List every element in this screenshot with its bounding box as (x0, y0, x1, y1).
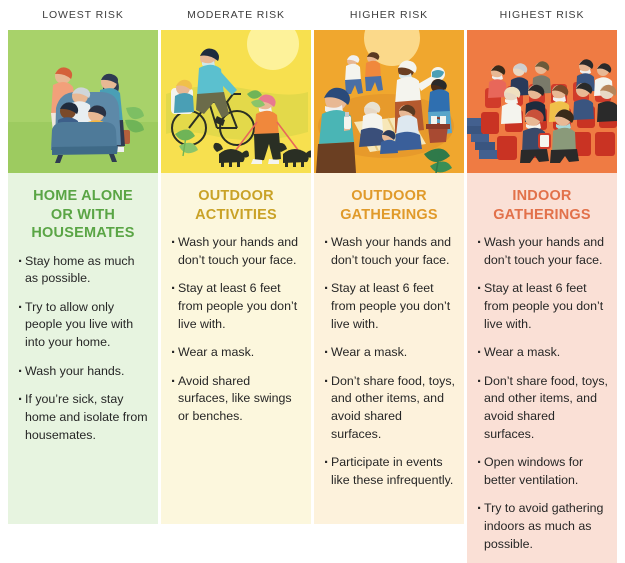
column-title-line: GATHERINGS (320, 206, 458, 225)
cyclist-and-dog-walker-icon (161, 30, 311, 173)
column-title-line: HOUSEMATES (14, 224, 152, 243)
column-title-line: OUTDOOR (167, 187, 305, 206)
risk-header-highest: HIGHEST RISK (467, 0, 617, 30)
list-item: Participate in events like these infrequ… (324, 454, 455, 489)
column-title-line: OUTDOOR (320, 187, 458, 206)
list-item: Stay at least 6 feet from people you don… (324, 280, 455, 333)
illustration-park-picnic-gathering (314, 30, 464, 173)
family-reading-on-couch-icon (8, 30, 158, 173)
risk-column-lowest: HOME ALONE OR WITH HOUSEMATES Stay home … (8, 30, 158, 524)
column-title-line: GATHERINGS (473, 206, 611, 225)
column-title-lowest: HOME ALONE OR WITH HOUSEMATES (8, 173, 158, 251)
risk-columns-row: HOME ALONE OR WITH HOUSEMATES Stay home … (0, 30, 625, 524)
risk-column-moderate: OUTDOOR ACTIVITIES Wash your hands and d… (161, 30, 311, 524)
illustration-cyclist-and-dog-walker-outdoors (161, 30, 311, 173)
list-item: Stay home as much as possible. (18, 253, 149, 288)
park-picnic-gathering-icon (314, 30, 464, 173)
list-item: Avoid shared surfaces, like swings or be… (171, 373, 302, 426)
list-item: Stay at least 6 feet from people you don… (477, 280, 608, 333)
column-title-line: OR WITH (14, 206, 152, 225)
risk-header-row: LOWEST RISK MODERATE RISK HIGHER RISK HI… (0, 0, 625, 30)
risk-levels-infographic: LOWEST RISK MODERATE RISK HIGHER RISK HI… (0, 0, 625, 524)
list-item: Wear a mask. (324, 344, 455, 362)
list-item: Don’t share food, toys, and other items,… (324, 373, 455, 443)
risk-column-higher: OUTDOOR GATHERINGS Wash your hands and d… (314, 30, 464, 524)
list-item: Wash your hands and don’t touch your fac… (171, 234, 302, 269)
bullet-list-moderate: Wash your hands and don’t touch your fac… (161, 232, 311, 524)
list-item: Stay at least 6 feet from people you don… (171, 280, 302, 333)
list-item: Wear a mask. (477, 344, 608, 362)
column-title-higher: OUTDOOR GATHERINGS (314, 173, 464, 232)
list-item: Try to avoid gathering indoors as much a… (477, 500, 608, 553)
column-title-highest: INDOOR GATHERINGS (467, 173, 617, 232)
column-title-moderate: OUTDOOR ACTIVITIES (161, 173, 311, 232)
risk-column-highest: INDOOR GATHERINGS Wash your hands and do… (467, 30, 617, 524)
column-title-line: INDOOR (473, 187, 611, 206)
bullet-list-highest: Wash your hands and don’t touch your fac… (467, 232, 617, 563)
illustration-movie-theater-audience (467, 30, 617, 173)
movie-theater-audience-icon (467, 30, 617, 173)
column-title-line: ACTIVITIES (167, 206, 305, 225)
risk-header-higher: HIGHER RISK (314, 0, 464, 30)
column-title-line: HOME ALONE (14, 187, 152, 206)
list-item: Wear a mask. (171, 344, 302, 362)
risk-header-lowest: LOWEST RISK (8, 0, 158, 30)
bullet-list-higher: Wash your hands and don’t touch your fac… (314, 232, 464, 524)
list-item: Wash your hands. (18, 363, 149, 381)
risk-header-moderate: MODERATE RISK (161, 0, 311, 30)
list-item: Open windows for better ventilation. (477, 454, 608, 489)
bullet-list-lowest: Stay home as much as possible. Try to al… (8, 251, 158, 524)
list-item: Don’t share food, toys, and other items,… (477, 373, 608, 443)
illustration-family-reading-on-couch (8, 30, 158, 173)
list-item: If you’re sick, stay home and isolate fr… (18, 391, 149, 444)
list-item: Wash your hands and don’t touch your fac… (477, 234, 608, 269)
list-item: Wash your hands and don’t touch your fac… (324, 234, 455, 269)
list-item: Try to allow only people you live with i… (18, 299, 149, 352)
